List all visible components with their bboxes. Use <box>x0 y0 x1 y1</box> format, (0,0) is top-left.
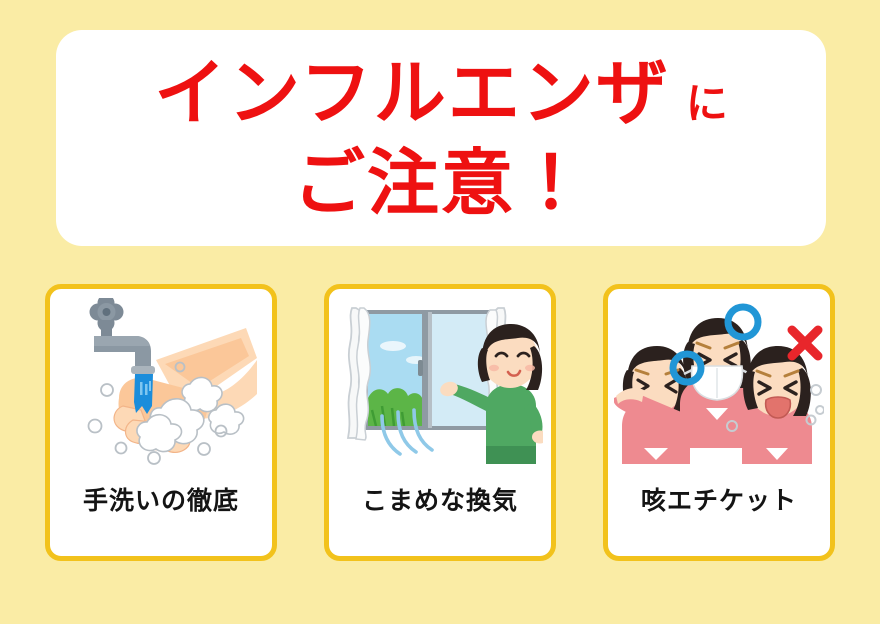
card-label-ventilation: こまめな換気 <box>362 481 518 517</box>
ventilation-illustration <box>329 295 551 475</box>
handwashing-illustration <box>50 295 272 475</box>
window-icon <box>366 312 495 428</box>
header-panel: インフルエンザ に ご注意！ <box>56 30 826 246</box>
prevention-cards-row: 手洗いの徹底 <box>45 284 835 561</box>
card-ventilation[interactable]: こまめな換気 <box>324 284 556 561</box>
card-cough-etiquette[interactable]: 咳エチケット <box>603 284 835 561</box>
faucet-icon <box>90 298 156 374</box>
title-line-secondary: ご注意！ <box>293 147 589 219</box>
title-particle: に <box>686 83 728 125</box>
faucet-spout-ring <box>131 366 155 374</box>
cough-into-elbow-icon <box>614 346 691 464</box>
card-label-cough-etiquette: 咳エチケット <box>641 481 797 517</box>
page-title: インフルエンザ <box>154 57 670 129</box>
red-cross-ng-mark <box>792 330 818 356</box>
faucet-pipe-highlight <box>94 336 150 346</box>
influenza-awareness-poster: インフルエンザ に ご注意！ <box>0 0 880 624</box>
shirt-hem <box>486 446 536 464</box>
water-stream-icon <box>134 374 153 414</box>
open-mouth <box>766 397 791 418</box>
handwashing-svg <box>61 298 261 473</box>
ventilation-svg <box>338 298 543 473</box>
cheek-right <box>525 364 535 370</box>
page-subtitle: ご注意！ <box>293 147 589 219</box>
cough-etiquette-illustration <box>608 295 830 475</box>
card-label-handwashing: 手洗いの徹底 <box>83 481 239 517</box>
title-line-primary: インフルエンザ に <box>154 57 728 129</box>
card-handwashing[interactable]: 手洗いの徹底 <box>45 284 277 561</box>
cheek-left <box>489 364 499 370</box>
cough-etiquette-svg <box>614 298 824 473</box>
